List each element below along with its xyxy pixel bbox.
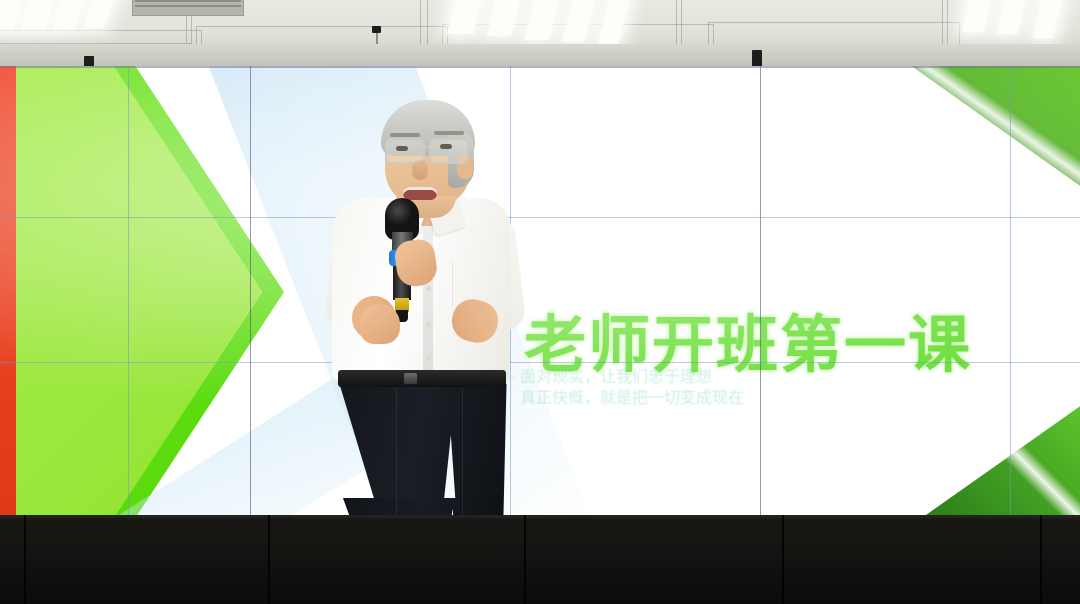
videowall-bezel-vertical: [128, 66, 129, 518]
presentation-slide: 老师开班第一课 面对现实，让我们忠于理想 真正快慨，就是把一切变成现在: [0, 66, 1080, 518]
ceiling-sensor-icon: [372, 26, 381, 33]
platform-seam: [524, 515, 526, 604]
videowall-bezel-horizontal: [0, 362, 1080, 363]
slide-corner-triangle-top-right: [906, 66, 1080, 190]
videowall-bezel-horizontal: [0, 217, 1080, 218]
ceiling: [0, 0, 1080, 72]
slide-subtitle-line-2: 真正快慨，就是把一切变成现在: [520, 387, 744, 408]
stage-platform: [0, 515, 1080, 604]
ceiling-beam: [0, 44, 1080, 66]
videowall-bezel-vertical: [760, 66, 761, 518]
platform-seam: [782, 515, 784, 604]
slide-corner-triangle-bottom-right: [916, 402, 1080, 518]
videowall-bezel-vertical: [1010, 66, 1011, 518]
slide-red-bar: [0, 66, 16, 518]
videowall-bezel-vertical: [250, 66, 251, 518]
videowall-bezel-vertical: [510, 66, 511, 518]
video-wall: 老师开班第一课 面对现实，让我们忠于理想 真正快慨，就是把一切变成现在: [0, 66, 1080, 518]
ceiling-vent: [132, 0, 244, 16]
platform-seam: [24, 515, 26, 604]
platform-seam: [268, 515, 270, 604]
slide-subtitle: 面对现实，让我们忠于理想 真正快慨，就是把一切变成现在: [520, 366, 744, 408]
screenshot-root: 老师开班第一课 面对现实，让我们忠于理想 真正快慨，就是把一切变成现在: [0, 0, 1080, 604]
platform-seam: [1040, 515, 1042, 604]
slide-subtitle-line-1: 面对现实，让我们忠于理想: [520, 366, 744, 387]
